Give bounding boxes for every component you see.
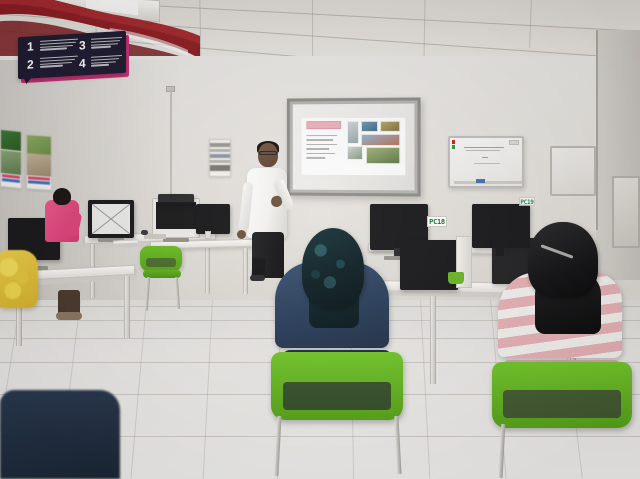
chair-slot — [503, 390, 621, 418]
projector-screen — [287, 97, 421, 196]
whiteboard-eraser — [476, 179, 485, 183]
slide-title-block — [306, 121, 341, 129]
foreground-object — [0, 390, 120, 479]
slide-photo — [361, 134, 400, 147]
cup — [205, 231, 211, 239]
plaque-number-1: 1 — [27, 40, 34, 52]
presenter-head — [258, 143, 278, 167]
yellow-patterned-bag — [0, 250, 38, 308]
monitor-foot — [163, 238, 189, 242]
student-right-hijab — [528, 222, 598, 298]
presenter-shoe — [250, 275, 265, 281]
wall-poster-left — [0, 129, 22, 189]
wall-cable-conduit — [170, 88, 172, 198]
desk-leg — [124, 276, 130, 338]
wall-notice-center — [209, 139, 231, 177]
projector-screen-surface — [293, 104, 415, 191]
slide-photo — [361, 120, 378, 131]
numbered-wall-plaque: 1 2 3 4 — [18, 31, 126, 80]
student-left-foot — [56, 312, 82, 320]
slide-photo — [380, 120, 400, 131]
presenter-hand-right — [237, 230, 246, 239]
chair-slot — [283, 382, 391, 410]
desk-leg — [205, 242, 210, 294]
chair-slot — [146, 258, 176, 267]
whiteboard-marker-red — [452, 140, 455, 144]
monitor — [196, 204, 230, 234]
small-bin — [448, 272, 464, 284]
slide-photo — [366, 147, 401, 164]
whiteboard — [448, 136, 524, 188]
monitor — [88, 200, 134, 238]
desk-leg — [430, 296, 436, 384]
slide-photo — [347, 146, 364, 160]
presenter-glasses — [259, 151, 277, 155]
desk-leg — [243, 248, 248, 294]
mouse — [141, 230, 148, 235]
monitor — [158, 194, 194, 204]
plaque-number-4: 4 — [79, 57, 86, 69]
plaque-number-3: 3 — [79, 39, 86, 51]
monitor-light — [152, 198, 200, 238]
right-wall-panel — [550, 146, 596, 196]
whiteboard-marker-green — [452, 145, 455, 149]
classroom-photo: 1 2 3 4 — [0, 0, 640, 479]
wall-corner — [596, 30, 598, 230]
plaque-number-2: 2 — [27, 58, 34, 70]
whiteboard-corner-tag — [509, 140, 519, 145]
student-center-hijab — [302, 228, 364, 308]
student-left-head — [53, 188, 71, 205]
presentation-slide — [301, 117, 406, 174]
whiteboard-pen-tray — [454, 181, 522, 184]
wall-poster-left-2 — [26, 134, 52, 191]
keyboard — [144, 234, 166, 239]
pc-label-far: PC19 — [519, 197, 535, 206]
right-wall-window — [612, 176, 640, 248]
pc-label-near: PC18 — [427, 216, 447, 227]
slide-photo — [347, 121, 360, 145]
